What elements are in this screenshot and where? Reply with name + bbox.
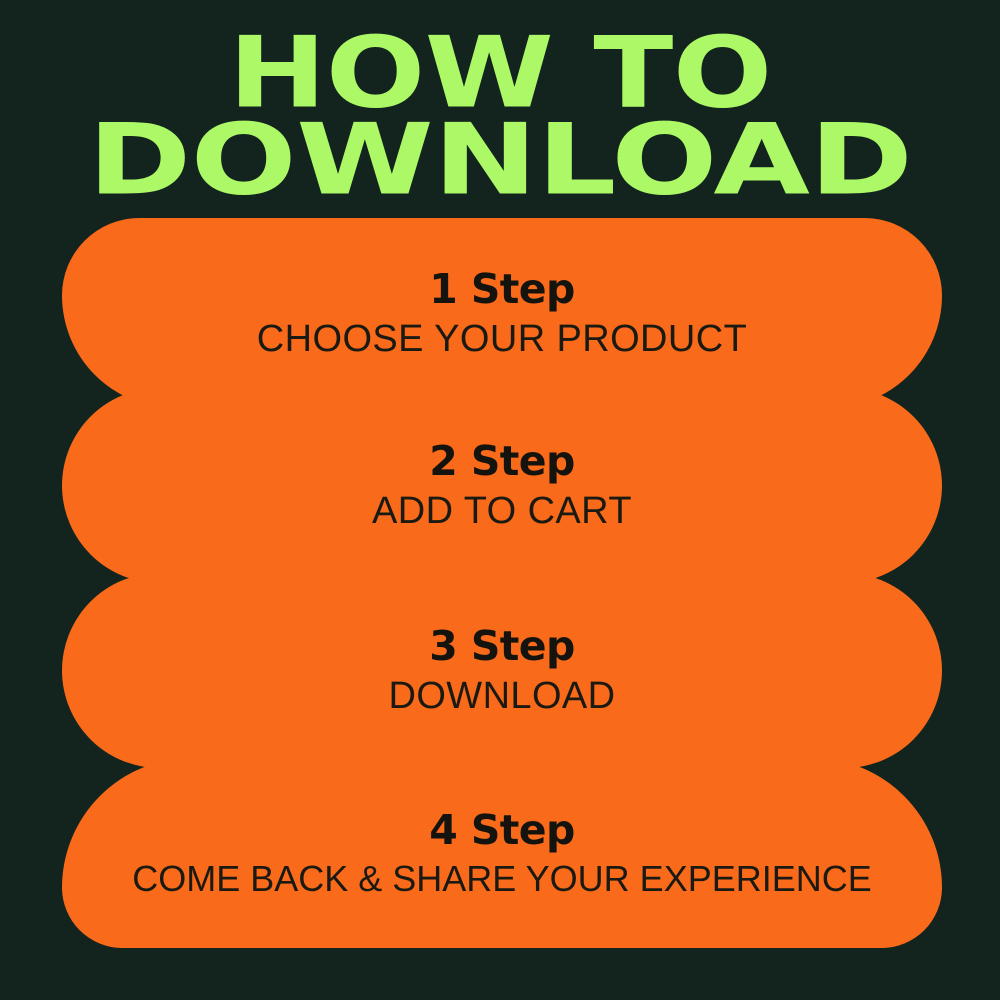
title-line-2: DOWNLOAD <box>0 121 1000 199</box>
poster-root: HOW TO DOWNLOAD 4 Step COME BACK & SHARE… <box>0 0 1000 1000</box>
step-card-4[interactable]: 4 Step COME BACK & SHARE YOUR EXPERIENCE <box>62 758 942 948</box>
step-number-1: 1 Step <box>429 269 575 310</box>
title-line-1: HOW TO <box>0 34 1000 112</box>
step-number-4: 4 Step <box>429 810 575 851</box>
step-card-2[interactable]: 2 Step ADD TO CART <box>62 388 942 583</box>
step-description-1: CHOOSE YOUR PRODUCT <box>257 320 747 358</box>
step-number-3: 3 Step <box>429 626 575 667</box>
step-description-2: ADD TO CART <box>372 492 632 530</box>
step-number-2: 2 Step <box>429 441 575 482</box>
step-description-3: DOWNLOAD <box>389 677 616 715</box>
page-title: HOW TO DOWNLOAD <box>0 34 1000 198</box>
step-description-4: COME BACK & SHARE YOUR EXPERIENCE <box>132 861 872 897</box>
step-card-1[interactable]: 1 Step CHOOSE YOUR PRODUCT <box>62 218 942 408</box>
step-card-3[interactable]: 3 Step DOWNLOAD <box>62 573 942 768</box>
step-list: 4 Step COME BACK & SHARE YOUR EXPERIENCE… <box>0 218 1000 948</box>
